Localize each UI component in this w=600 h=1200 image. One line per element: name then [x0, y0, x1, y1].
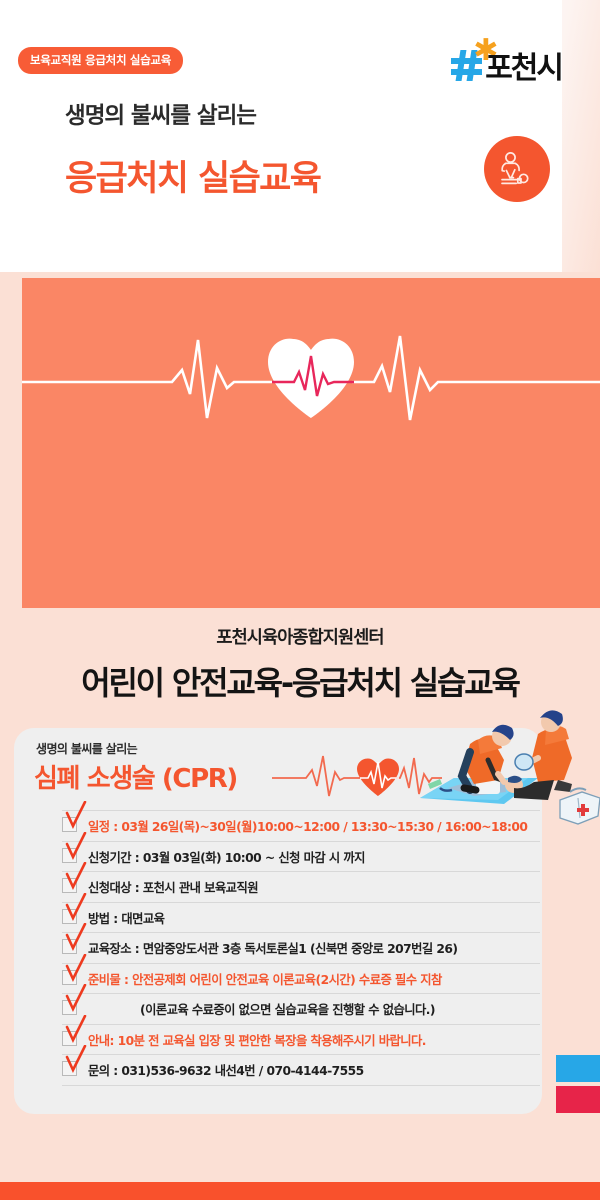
page-title: 어린이 안전교육-응급처치 실습교육 [0, 658, 600, 704]
list-item-label: 신청기간 : 03월 03일(화) 10:00 ~ 신청 마감 시 까지 [88, 848, 365, 866]
list-item-label: 문의 : 031)536-9632 내선4번 / 070-4144-7555 [88, 1061, 364, 1079]
list-item-label: 신청대상 : 포천시 관내 보육교직원 [88, 878, 258, 896]
list-item-label: 방법 : 대면교육 [88, 909, 164, 927]
card-heading: 심폐 소생술 (CPR) [34, 758, 237, 795]
checkbox-icon[interactable] [62, 939, 77, 954]
city-logo: ✱ 포천시 [450, 36, 562, 82]
list-item[interactable]: 문의 : 031)536-9632 내선4번 / 070-4144-7555 [62, 1055, 540, 1086]
list-item[interactable]: (이론교육 수료증이 없으면 실습교육을 진행할 수 없습니다.) [62, 994, 540, 1025]
list-item[interactable]: 신청대상 : 포천시 관내 보육교직원 [62, 872, 540, 903]
checkbox-icon[interactable] [62, 1031, 77, 1046]
list-item[interactable]: 안내: 10분 전 교육실 입장 및 편안한 복장을 착용해주시기 바랍니다. [62, 1025, 540, 1056]
list-item[interactable]: 신청기간 : 03월 03일(화) 10:00 ~ 신청 마감 시 까지 [62, 842, 540, 873]
checkbox-icon[interactable] [62, 909, 77, 924]
bottom-bar [0, 1182, 600, 1200]
list-item-label: (이론교육 수료증이 없으면 실습교육을 진행할 수 없습니다.) [140, 1000, 435, 1018]
list-item[interactable]: 준비물 : 안전공제회 어린이 안전교육 이론교육(2시간) 수료증 필수 지참 [62, 964, 540, 995]
checkbox-icon[interactable] [62, 970, 77, 985]
color-swatch-blue [556, 1055, 600, 1082]
list-item-label: 준비물 : 안전공제회 어린이 안전교육 이론교육(2시간) 수료증 필수 지참 [88, 970, 442, 988]
hashtag-icon: ✱ [450, 48, 484, 82]
list-item[interactable]: 방법 : 대면교육 [62, 903, 540, 934]
city-logo-label: 포천시 [485, 54, 562, 84]
list-item-label: 교육장소 : 면암중앙도서관 3층 독서토론실1 (신북면 중앙로 207번길 … [88, 939, 457, 957]
header-subtitle: 생명의 불씨를 살리는 [65, 98, 256, 130]
cpr-training-illustration [418, 700, 600, 825]
checkbox-icon[interactable] [62, 848, 77, 863]
list-item-label: 안내: 10분 전 교육실 입장 및 편안한 복장을 착용해주시기 바랍니다. [88, 1031, 426, 1049]
checkbox-icon[interactable] [62, 1061, 77, 1076]
list-item-label: 일정 : 03월 26일(목)~30일(월)10:00~12:00 / 13:3… [88, 817, 527, 835]
color-swatch-red [556, 1086, 600, 1113]
checkbox-icon[interactable] [62, 1000, 77, 1015]
header-badge: 보육교직원 응급처치 실습교육 [18, 47, 183, 74]
poster-root: 보육교직원 응급처치 실습교육 생명의 불씨를 살리는 응급처치 실습교육 ✱ … [0, 0, 600, 1200]
ecg-heart-icon [272, 752, 442, 800]
footer-section: 경동대학교 산학협력단 위탁운영 포천시육아종합지원센터 [0, 1118, 600, 1178]
cpr-person-icon [484, 136, 550, 202]
header-section: 보육교직원 응급처치 실습교육 생명의 불씨를 살리는 응급처치 실습교육 ✱ … [0, 0, 600, 272]
card-eyebrow: 생명의 불씨를 살리는 [36, 740, 137, 757]
list-item[interactable]: 일정 : 03월 26일(목)~30일(월)10:00~12:00 / 13:3… [62, 810, 540, 842]
heartbeat-ecg-icon [22, 278, 600, 608]
organization-subtitle: 포천시육아종합지원센터 [0, 624, 600, 649]
header-title: 응급처치 실습교육 [65, 150, 320, 201]
ecg-banner [22, 278, 600, 608]
details-list: 일정 : 03월 26일(목)~30일(월)10:00~12:00 / 13:3… [62, 810, 540, 1086]
checkbox-icon[interactable] [62, 817, 77, 832]
list-item[interactable]: 교육장소 : 면암중앙도서관 3층 독서토론실1 (신북면 중앙로 207번길 … [62, 933, 540, 964]
checkbox-icon[interactable] [62, 878, 77, 893]
